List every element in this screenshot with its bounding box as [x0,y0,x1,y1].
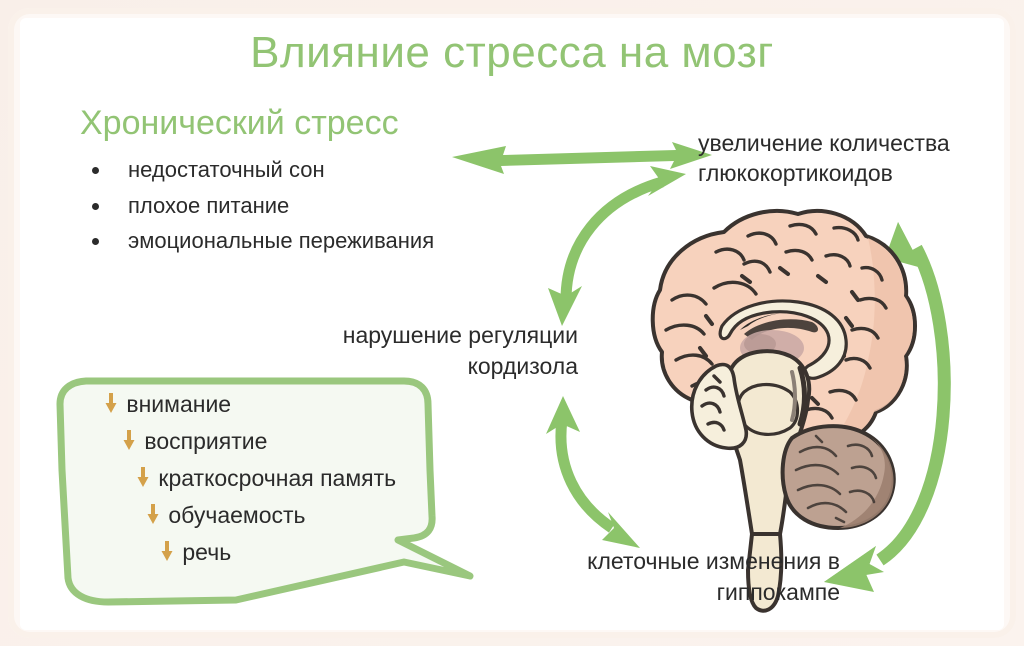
node-label-hippocampal-changes: клеточные изменения в гиппокампе [510,546,840,608]
bullet-dot-icon [92,203,99,210]
list-item: внимание [104,392,444,416]
bullet-dot-icon [92,167,99,174]
list-item: обучаемость [146,503,444,527]
arrow-cortisol-hippocampus [546,396,640,548]
list-item-label: эмоциональные переживания [128,228,434,253]
poster-content-layer: Влияние стресса на мозг Хронический стре… [0,0,1024,646]
list-item-label: плохое питание [128,193,289,218]
down-arrow-icon [136,466,152,488]
down-arrow-icon [104,392,120,414]
cognitive-deficits-list: внимание восприятие краткосрочная память [104,392,444,577]
node-label-cortisol-dysregulation: нарушение регуляции кордизола [268,320,578,382]
list-item: восприятие [122,429,444,453]
list-item: недостаточный сон [84,158,544,183]
section-title-chronic-stress: Хронический стресс [80,104,399,143]
node-label-glucocorticoids: увеличение количества глюкокортикоидов [698,128,1018,189]
list-item: плохое питание [84,194,544,219]
bullet-dot-icon [92,238,99,245]
page-title: Влияние стресса на мозг [0,28,1024,78]
down-arrow-icon [122,429,138,451]
list-item: речь [160,540,444,564]
chronic-stress-causes-list: недостаточный сон плохое питание эмоцион… [84,158,544,265]
down-arrow-icon [160,540,176,562]
list-item-label: речь [182,539,231,565]
list-item-label: краткосрочная память [158,465,396,491]
list-item-label: восприятие [144,428,267,454]
list-item-label: внимание [126,391,231,417]
list-item-label: недостаточный сон [128,157,325,182]
list-item: краткосрочная память [136,466,444,490]
infographic-poster: Влияние стресса на мозг Хронический стре… [0,0,1024,646]
list-item-label: обучаемость [168,502,305,528]
down-arrow-icon [146,503,162,525]
list-item: эмоциональные переживания [84,229,544,254]
